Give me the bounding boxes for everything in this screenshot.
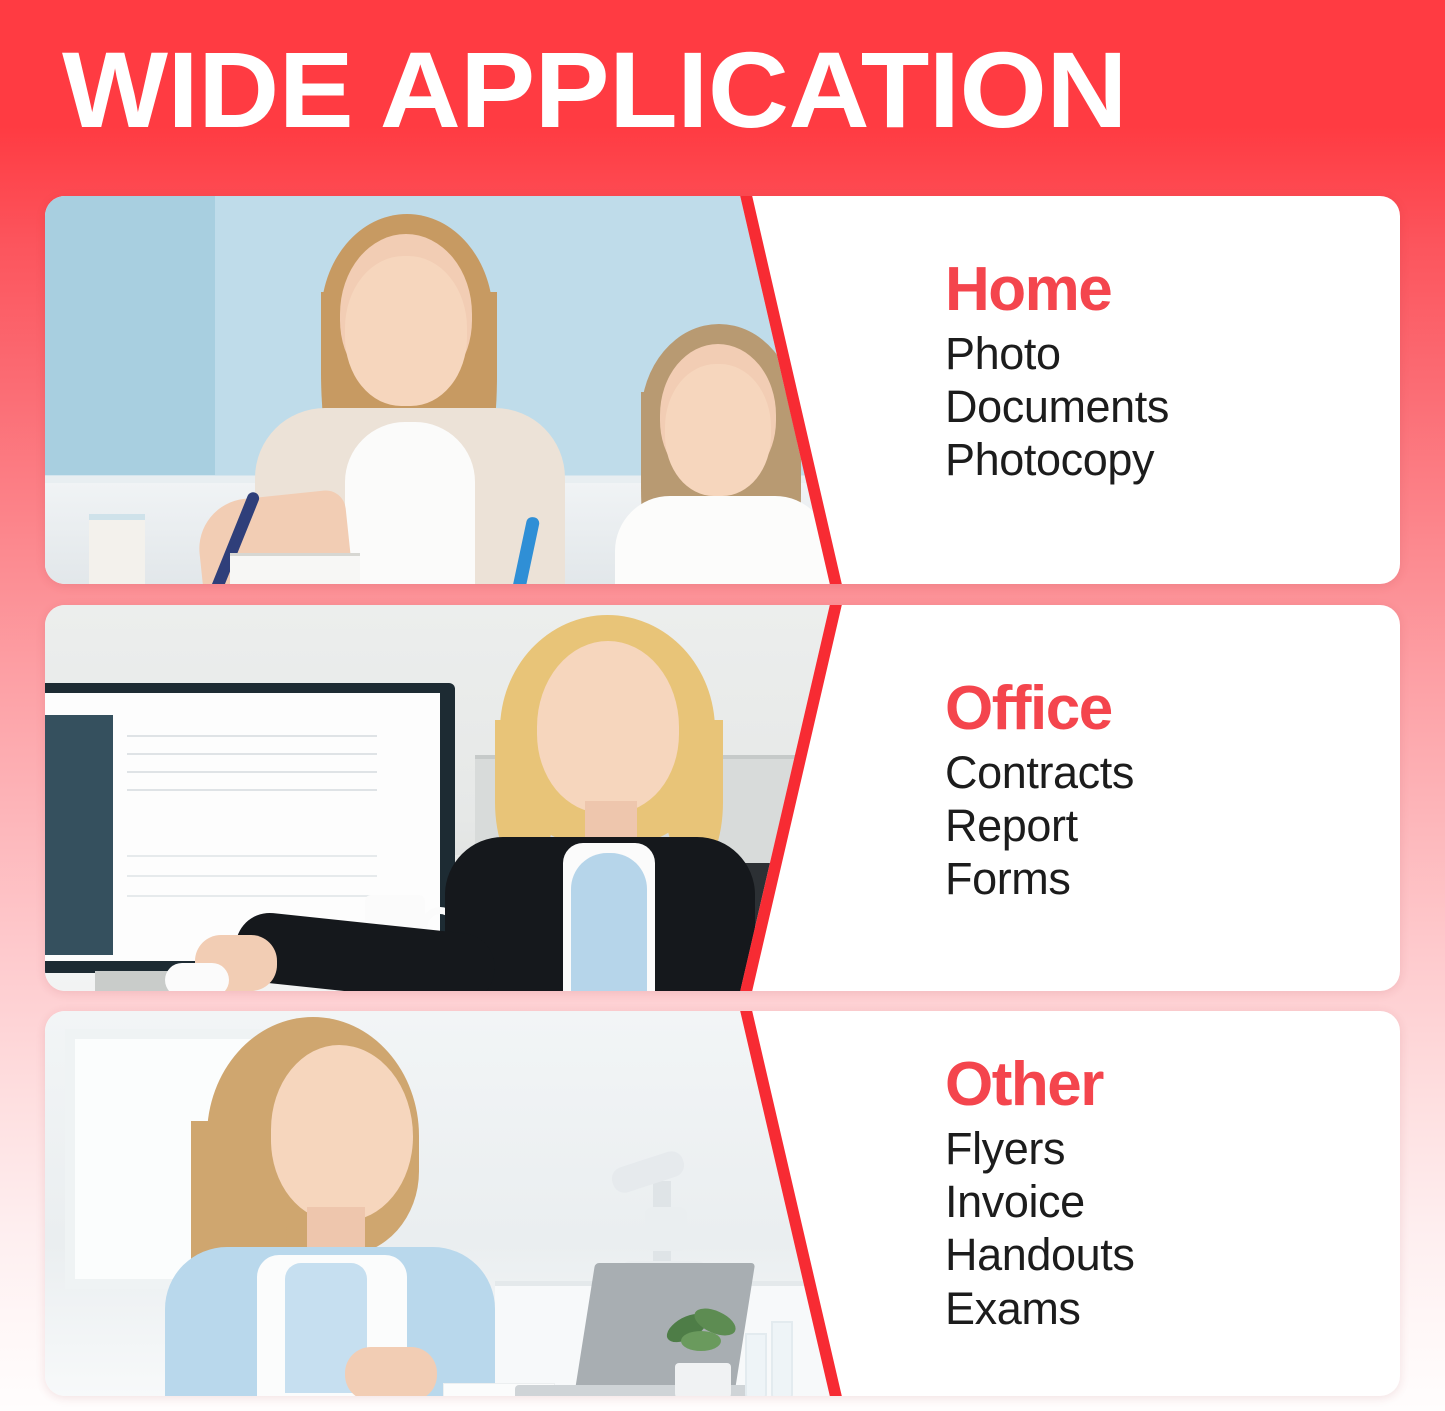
list-item: Photocopy bbox=[945, 433, 1400, 486]
application-card-home: Home Photo Documents Photocopy bbox=[45, 196, 1400, 584]
application-card-other: Other Flyers Invoice Handouts Exams bbox=[45, 1011, 1400, 1396]
list-item: Invoice bbox=[945, 1175, 1400, 1228]
scene-other-illustration bbox=[45, 1011, 845, 1396]
list-item: Forms bbox=[945, 852, 1400, 905]
title-band: WIDE APPLICATION bbox=[0, 0, 1445, 180]
application-card-office: Office Contracts Report Forms bbox=[45, 605, 1400, 991]
page-title: WIDE APPLICATION bbox=[62, 36, 1127, 144]
card-heading-home: Home bbox=[945, 258, 1400, 321]
list-item: Exams bbox=[945, 1282, 1400, 1335]
card-heading-other: Other bbox=[945, 1053, 1400, 1116]
text-panel-other: Other Flyers Invoice Handouts Exams bbox=[945, 1011, 1400, 1396]
list-item: Handouts bbox=[945, 1228, 1400, 1281]
scene-home-illustration bbox=[45, 196, 845, 584]
card-items-home: Photo Documents Photocopy bbox=[945, 327, 1400, 486]
card-items-office: Contracts Report Forms bbox=[945, 746, 1400, 905]
list-item: Contracts bbox=[945, 746, 1400, 799]
photo-office bbox=[45, 605, 845, 991]
list-item: Photo bbox=[945, 327, 1400, 380]
list-item: Flyers bbox=[945, 1122, 1400, 1175]
photo-other bbox=[45, 1011, 845, 1396]
card-heading-office: Office bbox=[945, 677, 1400, 740]
list-item: Report bbox=[945, 799, 1400, 852]
photo-home bbox=[45, 196, 845, 584]
list-item: Documents bbox=[945, 380, 1400, 433]
scene-office-illustration bbox=[45, 605, 845, 991]
wide-application-poster: WIDE APPLICATION bbox=[0, 0, 1445, 1411]
card-items-other: Flyers Invoice Handouts Exams bbox=[945, 1122, 1400, 1334]
text-panel-office: Office Contracts Report Forms bbox=[945, 605, 1400, 991]
text-panel-home: Home Photo Documents Photocopy bbox=[945, 196, 1400, 584]
